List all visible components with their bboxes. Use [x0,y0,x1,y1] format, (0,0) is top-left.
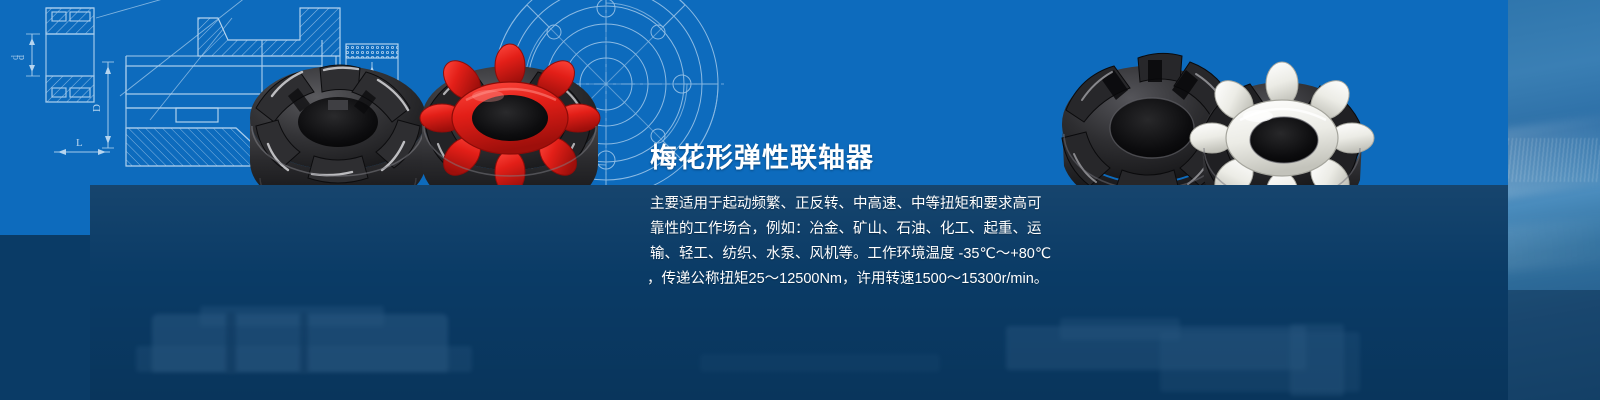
svg-text:D: D [91,104,103,112]
photo-sheen-secondary [1508,213,1600,273]
description-line-2: 靠性的工作场合，例如：冶金、矿山、石油、化工、起重、运 [650,217,1054,241]
description-line-4: ，传递公称扭矩25～12500Nm，许用转速1500～15300r/min。 [650,267,1054,291]
svg-text:L: L [76,137,83,149]
photo-dark-band [1508,290,1600,400]
svg-text:d: d [10,55,21,60]
description-line-3: 输、轻工、纺织、水泵、风机等。工作环境温度 -35℃～+80℃ [650,242,1054,266]
page-title: 梅花形弹性联轴器 [650,136,874,175]
description-line-1: 主要适用于起动频繁、正反转、中高速、中等扭矩和要求高可 [650,192,1054,216]
background-ghost-machinery [0,296,1508,400]
background-right-photo-strip [1508,0,1600,400]
product-description: 主要适用于起动频繁、正反转、中高速、中等扭矩和要求高可 靠性的工作场合，例如：冶… [650,192,1054,292]
product-banner: d d [0,0,1600,400]
photo-fiber-texture [1508,138,1600,182]
